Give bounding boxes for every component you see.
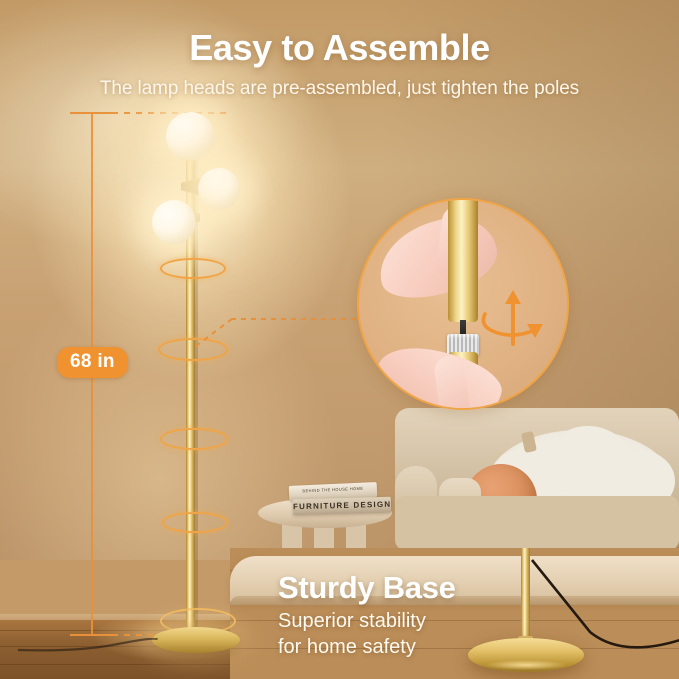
measure-dash-bottom: [112, 634, 222, 636]
callout-line-segment: [231, 318, 373, 320]
book-title: BEHIND THE HOUSE HOME: [289, 485, 377, 494]
product-marketing-image: BEHIND THE HOUSE HOME FURNITURE DESIGN 6…: [0, 0, 679, 679]
height-badge: 68 in: [57, 347, 128, 378]
book-lower: FURNITURE DESIGN: [293, 497, 391, 516]
lamp-pole-right: [521, 548, 530, 646]
sturdy-base-title: Sturdy Base: [278, 570, 456, 606]
pole-upper-section: [448, 198, 478, 322]
sturdy-base-line1: Superior stability: [278, 608, 426, 634]
page-subtitle: The lamp heads are pre-assembled, just t…: [0, 78, 679, 100]
measure-cap-icon: [70, 634, 112, 636]
measure-cap-icon: [70, 112, 112, 114]
assembly-zoom-inset: [357, 198, 569, 410]
twist-rotation-icon: [477, 284, 551, 350]
power-cord-right: [530, 556, 679, 652]
book-title: FURNITURE DESIGN: [293, 500, 391, 512]
sturdy-base-line2: for home safety: [278, 634, 426, 660]
measure-dash-top: [112, 112, 230, 114]
sofa-seat: [395, 496, 679, 550]
lamp-base-highlight: [484, 660, 568, 670]
sturdy-base-subtitle: Superior stability for home safety: [278, 608, 426, 661]
sofa: [395, 408, 679, 560]
page-title: Easy to Assemble: [0, 27, 679, 69]
